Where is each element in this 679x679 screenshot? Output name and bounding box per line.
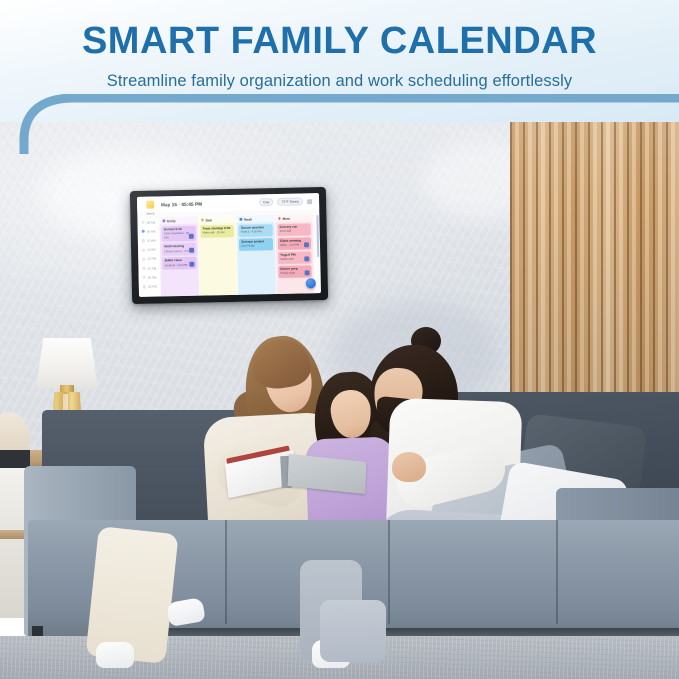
column-events: Dentist 9:30Clinic downtown · 45 minMath…	[160, 224, 199, 297]
page-title: SMART FAMILY CALENDAR	[0, 20, 679, 63]
event-detail: Due Friday	[241, 245, 270, 249]
person-color-dot-icon	[162, 220, 165, 223]
display-screen[interactable]: May 15 · 05:45 PM Day 72°F Sunny Week 08…	[137, 193, 321, 297]
time-dot-icon	[142, 267, 145, 270]
calendar-event-card[interactable]: Math tutoringLibrary room 2 · 1 hr	[162, 243, 196, 256]
time-dot-icon	[141, 221, 144, 224]
column-person-name: Dad	[206, 218, 212, 222]
top-bar-controls: Day 72°F Sunny	[259, 197, 312, 206]
calendar-event-card[interactable]: Dentist 9:30Clinic downtown · 45 min	[162, 226, 196, 242]
time-label: 10 AM	[147, 239, 156, 243]
smart-calendar-display[interactable]: May 15 · 05:45 PM Day 72°F Sunny Week 08…	[130, 187, 328, 304]
time-label: 01 PM	[148, 266, 157, 270]
time-dot-icon	[142, 248, 145, 251]
time-rail-row[interactable]: 08 AM	[137, 217, 159, 227]
person-color-dot-icon	[278, 217, 281, 220]
column-person-name: Noah	[244, 217, 252, 221]
calendar-event-card[interactable]: Ballet classStudio B · 5:00 PM	[162, 257, 196, 270]
time-label: 08 AM	[147, 220, 156, 224]
person-color-dot-icon	[201, 219, 204, 222]
time-rail-row[interactable]: 09 AM	[138, 227, 160, 237]
time-label: 02 PM	[148, 275, 157, 279]
time-label: 11 AM	[147, 248, 155, 252]
event-avatar-badge	[305, 270, 310, 275]
time-dot-icon	[143, 276, 146, 279]
time-dot-icon	[143, 285, 146, 288]
event-detail: Video call · 15 min	[203, 231, 232, 235]
calendar-event-card[interactable]: Grocery run10:00 AM	[277, 223, 311, 236]
header-banner: SMART FAMILY CALENDAR Streamline family …	[0, 0, 679, 122]
event-avatar-badge	[189, 248, 194, 253]
sofa-seam-2	[388, 520, 390, 628]
time-rail-row[interactable]: 03 PM	[139, 282, 161, 292]
weather-pill[interactable]: 72°F Sunny	[277, 197, 303, 206]
column-person-name: Emily	[167, 219, 176, 223]
event-avatar-badge	[189, 262, 194, 267]
column-events: Soccer practiceField 3 · 4:30 PMScience …	[237, 222, 276, 295]
event-detail: Field 3 · 4:30 PM	[241, 231, 270, 235]
sofa-seam-3	[556, 520, 558, 630]
vertical-scrollbar[interactable]	[316, 215, 319, 257]
view-selector[interactable]: Day	[259, 198, 273, 207]
calendar-logo-icon	[146, 201, 154, 209]
time-rail-row[interactable]: 12 PM	[138, 254, 160, 264]
time-rail-row[interactable]: 01 PM	[138, 263, 160, 273]
person-color-dot-icon	[239, 218, 242, 221]
sofa-seam-1	[225, 520, 227, 630]
calendar-column[interactable]: EmilyDentist 9:30Clinic downtown · 45 mi…	[159, 217, 199, 297]
event-avatar-badge	[304, 242, 309, 247]
event-detail: 10:00 AM	[280, 230, 309, 234]
app-top-bar: May 15 · 05:45 PM Day 72°F Sunny	[137, 193, 319, 213]
column-person-name: Mom	[282, 216, 290, 220]
calendar-event-card[interactable]: Science projectDue Friday	[239, 238, 273, 251]
column-events: Team standup 9:00Video call · 15 min	[198, 223, 237, 296]
father-hand	[392, 452, 426, 482]
calendar-column[interactable]: DadTeam standup 9:00Video call · 15 min	[198, 216, 238, 296]
calendar-event-card[interactable]: Yoga 6 PMStudio east	[278, 251, 312, 264]
view-sub-label: Week	[146, 212, 154, 216]
page-subtitle: Streamline family organization and work …	[0, 72, 679, 91]
calendar-event-card[interactable]: Dinner prepFamily night	[278, 265, 312, 278]
time-label: 12 PM	[147, 257, 156, 261]
father-shin	[320, 600, 386, 662]
gear-icon[interactable]	[307, 199, 312, 204]
time-rail: 08 AM09 AM10 AM11 AM12 PM01 PM02 PM03 PM	[137, 217, 162, 296]
time-rail-row[interactable]: 02 PM	[139, 273, 161, 283]
sock-mother-left	[96, 642, 134, 668]
event-avatar-badge	[304, 256, 309, 261]
calendar-columns: EmilyDentist 9:30Clinic downtown · 45 mi…	[159, 214, 315, 296]
time-rail-row[interactable]: 10 AM	[138, 236, 160, 246]
calendar-column[interactable]: NoahSoccer practiceField 3 · 4:30 PMScie…	[236, 215, 276, 295]
calendar-event-card[interactable]: Soccer practiceField 3 · 4:30 PM	[239, 224, 273, 237]
lamp-shade	[36, 338, 98, 388]
event-avatar-badge	[188, 234, 193, 239]
time-dot-icon	[142, 258, 145, 261]
screenshot-root: May 15 · 05:45 PM Day 72°F Sunny Week 08…	[0, 0, 679, 679]
calendar-event-card[interactable]: Client meetingOffice · 1:00 PM	[277, 237, 311, 250]
calendar-event-card[interactable]: Team standup 9:00Video call · 15 min	[200, 225, 234, 238]
time-rail-row[interactable]: 11 AM	[138, 245, 160, 255]
time-label: 03 PM	[148, 284, 157, 288]
time-dot-icon	[142, 230, 145, 233]
current-date-label: May 15 · 05:45 PM	[161, 201, 202, 207]
time-dot-icon	[142, 239, 145, 242]
time-label: 09 AM	[147, 229, 156, 233]
